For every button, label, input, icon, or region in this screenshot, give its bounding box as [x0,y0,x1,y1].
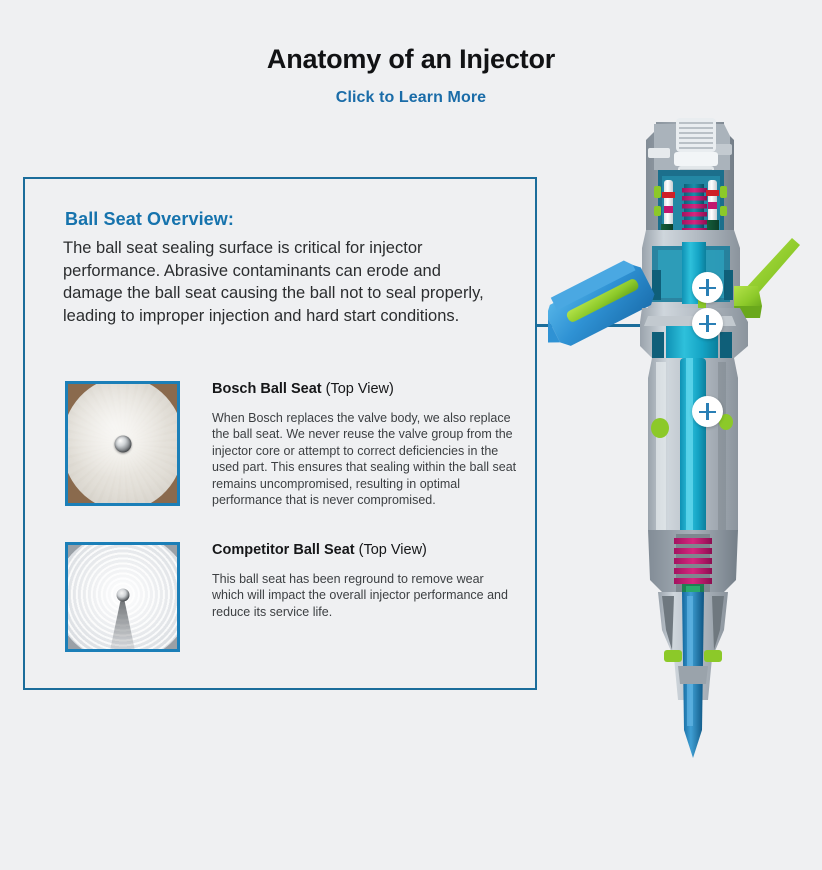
bosch-item-description: When Bosch replaces the valve body, we a… [212,410,517,509]
seat-orifice [116,588,129,601]
locator-left [651,418,669,438]
bosch-item-title-main: Bosch Ball Seat [212,381,322,397]
ball-seat-overview-panel: Ball Seat Overview: The ball seat sealin… [23,177,537,690]
competitor-item-title: Competitor Ball Seat (Top View) [212,542,517,558]
click-to-learn-more-link[interactable]: Click to Learn More [0,89,822,107]
hotspot-ball-seat[interactable] [692,308,723,339]
competitor-ball-seat-photo[interactable] [65,542,180,652]
hotspot-solenoid-valve[interactable] [692,272,723,303]
hotspot-control-chamber[interactable] [692,396,723,427]
competitor-item-title-suffix: (Top View) [359,542,427,558]
panel-body-text: The ball seat sealing surface is critica… [63,237,503,327]
injector-cutaway-diagram [548,110,822,790]
competitor-item-description: This ball seat has been reground to remo… [212,571,517,621]
page-title: Anatomy of an Injector [0,44,822,75]
ball-center [114,435,131,452]
bosch-ball-seat-photo[interactable] [65,381,180,506]
competitor-item-title-main: Competitor Ball Seat [212,542,355,558]
anatomy-of-injector-page: Anatomy of an Injector Click to Learn Mo… [0,0,822,870]
return-line-pipe [734,238,800,318]
panel-heading: Ball Seat Overview: [65,209,234,230]
bosch-item-title: Bosch Ball Seat (Top View) [212,381,517,397]
bosch-item-title-suffix: (Top View) [326,381,394,397]
